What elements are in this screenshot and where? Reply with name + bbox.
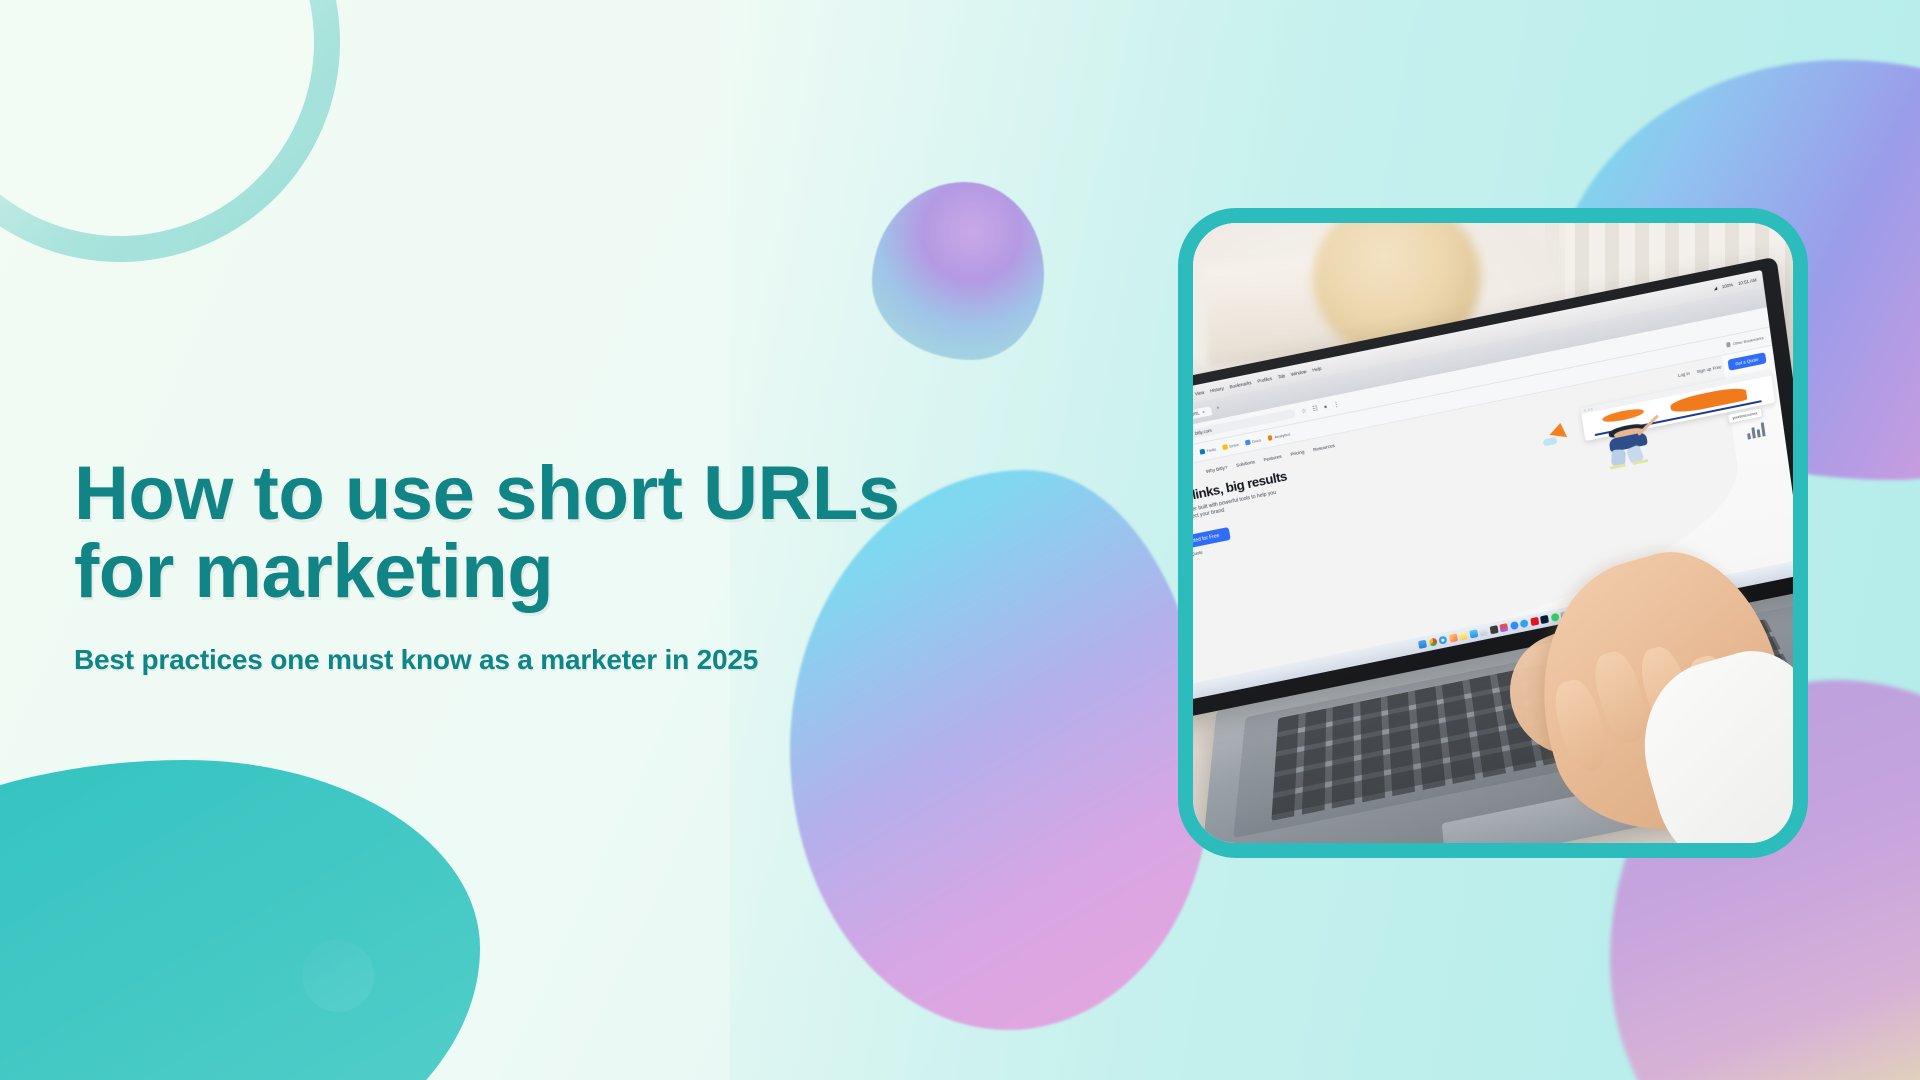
clock-label: 10:51 AM [1738,278,1757,287]
dock-icon-photoshop[interactable] [1540,615,1549,624]
tab-title: Bitly | URL [1193,410,1200,419]
more-menu-icon[interactable]: ⋮ [1333,401,1340,409]
menubar-item-tab[interactable]: Tab [1277,374,1285,380]
dock-icon-mail[interactable] [1469,630,1478,639]
bookmark-favicon [1267,435,1272,440]
bookmark-other-folder[interactable]: Other Bookmarks [1726,335,1764,348]
bookmark-favicon [1222,445,1227,450]
dock-icon-whatsapp[interactable] [1550,613,1559,622]
bookmark-drive[interactable]: Drive [1222,442,1239,450]
bookmark-trello[interactable]: Trello [1199,447,1216,455]
menubar-item-profiles[interactable]: Profiles [1257,376,1272,384]
bookmark-favicon [1245,440,1250,445]
dock-icon-notes[interactable] [1459,632,1468,641]
profile-avatar-icon[interactable]: ● [1323,404,1328,411]
bookmark-analytics[interactable]: Analytics [1267,432,1290,442]
dock-icon-behance[interactable] [1530,617,1539,626]
menubar-item-help[interactable]: Help [1312,366,1322,373]
bookmark-label: Analytics [1274,432,1291,440]
url-text: bitly.com [1194,428,1212,436]
login-link[interactable]: Log in [1678,371,1691,378]
dock-icon-figma[interactable] [1499,624,1508,633]
tab-close-icon[interactable]: × [1202,409,1205,415]
menubar-item-window[interactable]: Window [1290,369,1306,377]
circle-bottom-left-teal-decoration [302,940,374,1012]
illustration-bar-chart [1746,421,1766,439]
nav-item-pricing[interactable]: Pricing [1290,449,1305,457]
dock-icon-finder[interactable] [1418,640,1427,649]
nav-item-features[interactable]: Features [1263,454,1282,463]
laptop-photo:  Chrome File Edit View History Bookmark… [1193,223,1793,843]
folder-icon [1726,342,1731,347]
extensions-icon[interactable]: ☷ [1312,405,1319,413]
dock-icon-safari[interactable] [1438,636,1447,645]
dock-icon-zoom[interactable] [1510,621,1519,630]
page-subtitle: Best practices one must know as a market… [74,644,954,676]
bookmark-label: Docs [1251,437,1261,444]
wifi-icon[interactable]: ◢ [1713,285,1717,292]
bookmark-favicon [1199,449,1204,454]
bookmark-label: Trello [1206,447,1217,454]
menubar-item-history[interactable]: History [1210,386,1225,394]
triangle-shape-icon [1550,422,1570,437]
dock-icon-photos[interactable] [1449,634,1458,643]
dock-icon-chrome[interactable] [1428,638,1437,647]
headline-block: How to use short URLs for marketing Best… [74,455,954,676]
bookmark-label: Other Bookmarks [1732,335,1763,346]
nav-item-solutions[interactable]: Solutions [1236,459,1256,468]
menubar-item-view[interactable]: View [1194,390,1204,397]
bookmark-label: Drive [1229,442,1239,449]
illustration-circle-shape [1601,407,1644,424]
dock-icon-slack[interactable] [1489,626,1498,635]
page-title: How to use short URLs for marketing [74,455,954,610]
new-tab-icon[interactable]: + [1216,406,1220,413]
pill-shape-decoration [1542,437,1557,447]
dock-icon-preview[interactable] [1479,628,1488,637]
bookmark-docs[interactable]: Docs [1245,437,1261,445]
menubar-item-bookmarks[interactable]: Bookmarks [1229,380,1252,389]
star-icon[interactable]: ☆ [1301,408,1308,416]
laptop-photo-frame:  Chrome File Edit View History Bookmark… [1178,208,1808,858]
battery-label: 100% [1721,282,1733,289]
dock-icon-telegram[interactable] [1520,619,1529,628]
